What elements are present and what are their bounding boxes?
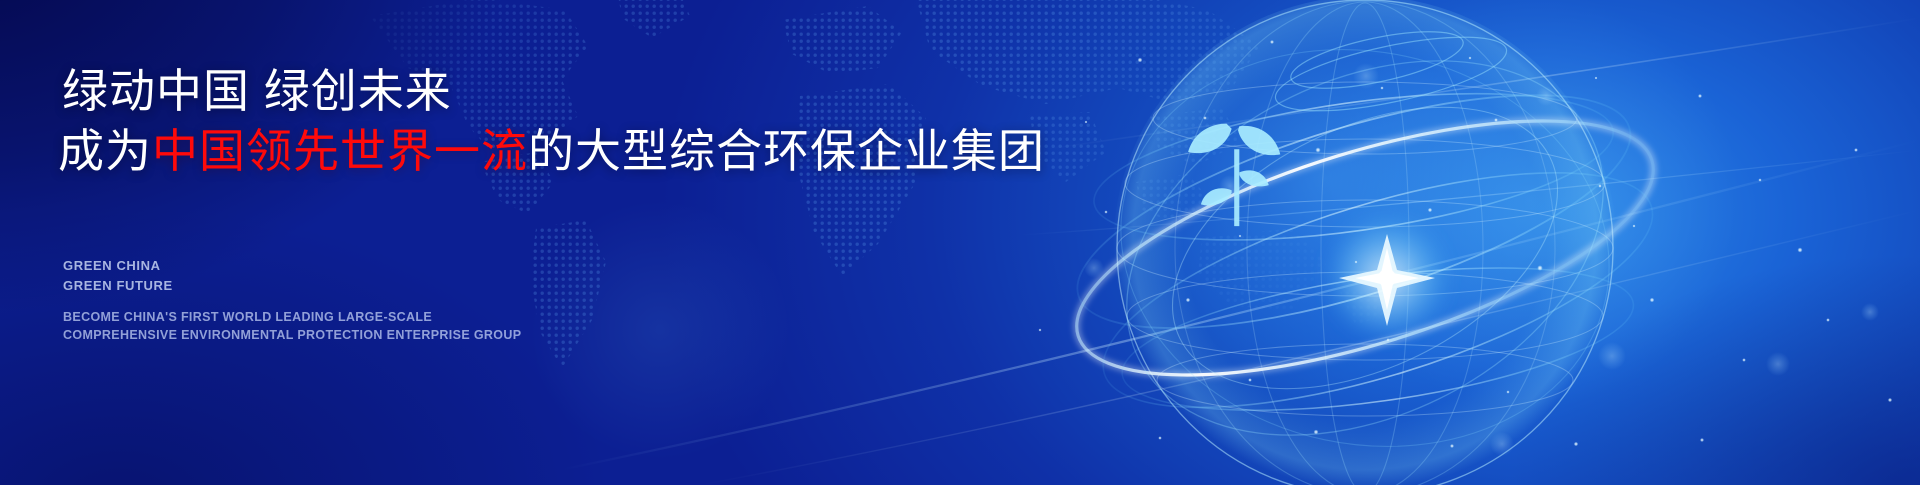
headline-prefix: 成为	[58, 125, 152, 177]
hero-banner: 绿动中国 绿创未来 成为中国领先世界一流的大型综合环保企业集团 GREEN CH…	[0, 0, 1920, 485]
headline-block: 绿动中国 绿创未来 成为中国领先世界一流的大型综合环保企业集团	[58, 64, 1058, 179]
headline-suffix: 的大型综合环保企业集团	[528, 125, 1045, 177]
star-burst-icon	[1323, 214, 1451, 342]
headline-line-2: 成为中国领先世界一流的大型综合环保企业集团	[58, 124, 1058, 178]
headline-highlight: 中国领先世界一流	[152, 125, 528, 177]
description-english: BECOME CHINA'S FIRST WORLD LEADING LARGE…	[63, 308, 521, 344]
headline-line-1: 绿动中国 绿创未来	[58, 64, 1058, 118]
tagline-english: GREEN CHINA GREEN FUTURE	[63, 256, 173, 295]
globe-graphic	[1055, 0, 1675, 485]
